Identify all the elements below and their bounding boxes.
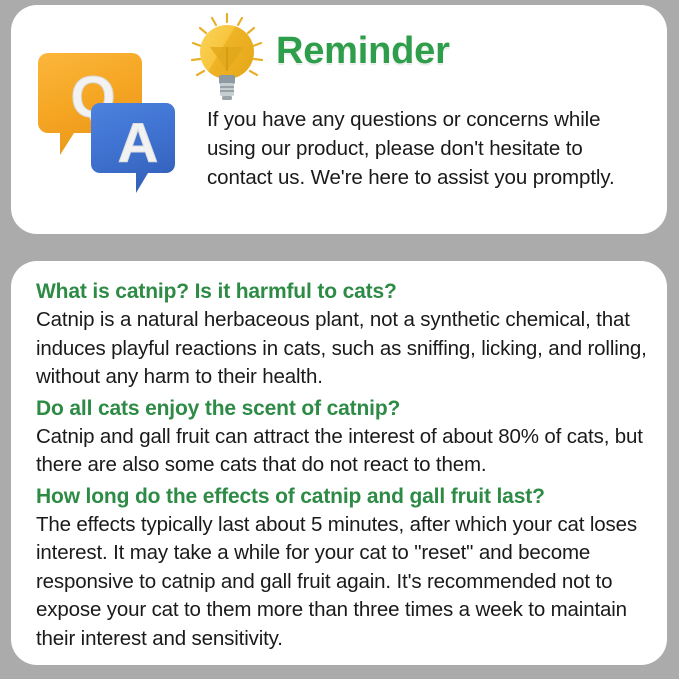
reminder-card: Q A (11, 5, 667, 234)
lightbulb-icon (186, 11, 268, 103)
faq-question: What is catnip? Is it harmful to cats? (36, 277, 652, 306)
faq-item: What is catnip? Is it harmful to cats? C… (36, 277, 652, 392)
question-answer-bubbles-icon: Q A (38, 45, 178, 195)
faq-answer: Catnip and gall fruit can attract the in… (36, 423, 652, 480)
faq-answer: Catnip is a natural herbaceous plant, no… (36, 306, 652, 392)
faq-question: Do all cats enjoy the scent of catnip? (36, 394, 652, 423)
faq-item: How long do the effects of catnip and ga… (36, 482, 652, 654)
svg-text:A: A (118, 111, 158, 174)
faq-question: How long do the effects of catnip and ga… (36, 482, 652, 511)
faq-answer: The effects typically last about 5 minut… (36, 511, 652, 654)
reminder-body-text: If you have any questions or concerns wh… (207, 105, 627, 192)
page-title: Reminder (276, 32, 450, 70)
faq-card: What is catnip? Is it harmful to cats? C… (11, 261, 667, 665)
infographic-page: Q A (0, 0, 679, 679)
faq-item: Do all cats enjoy the scent of catnip? C… (36, 394, 652, 480)
